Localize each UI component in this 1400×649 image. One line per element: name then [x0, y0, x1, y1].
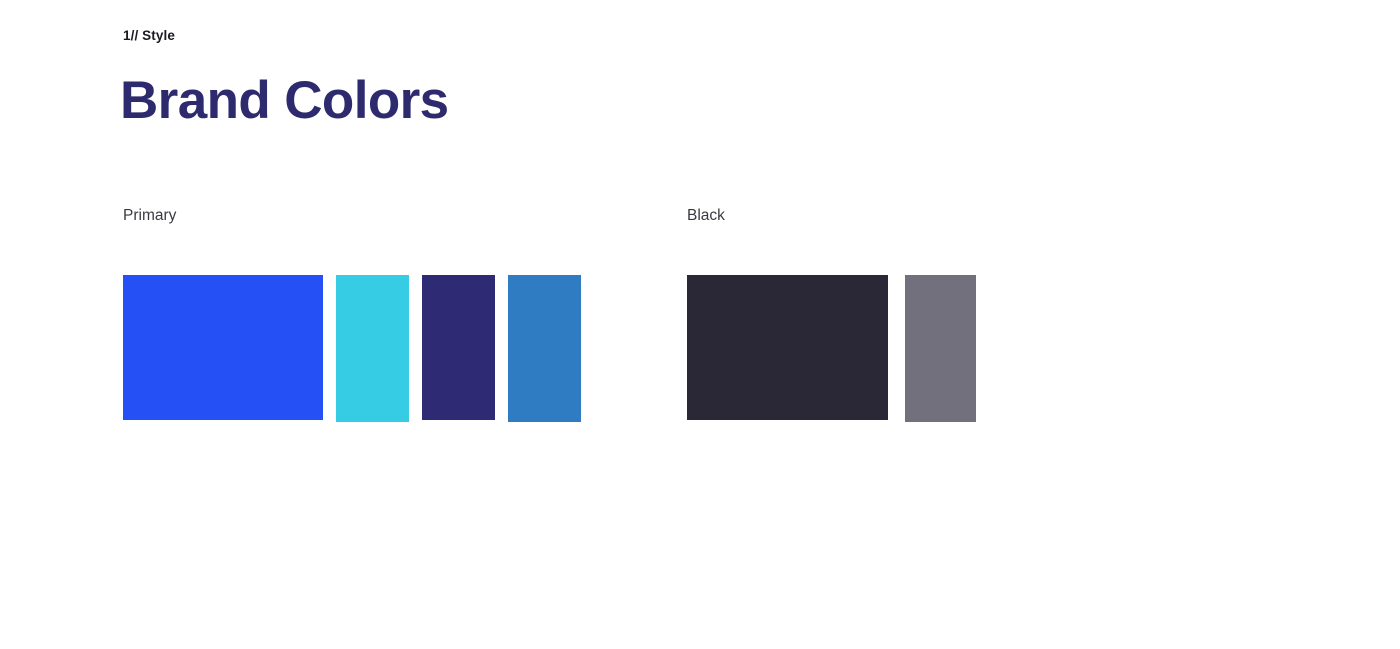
swatch-row-primary	[123, 275, 581, 422]
color-group-label: Black	[687, 205, 725, 227]
swatch-row-black	[687, 275, 976, 422]
page-title: Brand Colors	[120, 68, 449, 134]
style-guide-page: 1// Style Brand Colors Primary Black	[0, 0, 1400, 649]
color-swatch	[336, 275, 409, 422]
color-swatch	[508, 275, 581, 422]
color-swatch	[905, 275, 976, 422]
color-swatch	[422, 275, 495, 420]
color-swatch	[687, 275, 888, 420]
color-swatch	[123, 275, 323, 420]
color-group-label: Primary	[123, 205, 176, 227]
section-eyebrow: 1// Style	[123, 27, 175, 45]
